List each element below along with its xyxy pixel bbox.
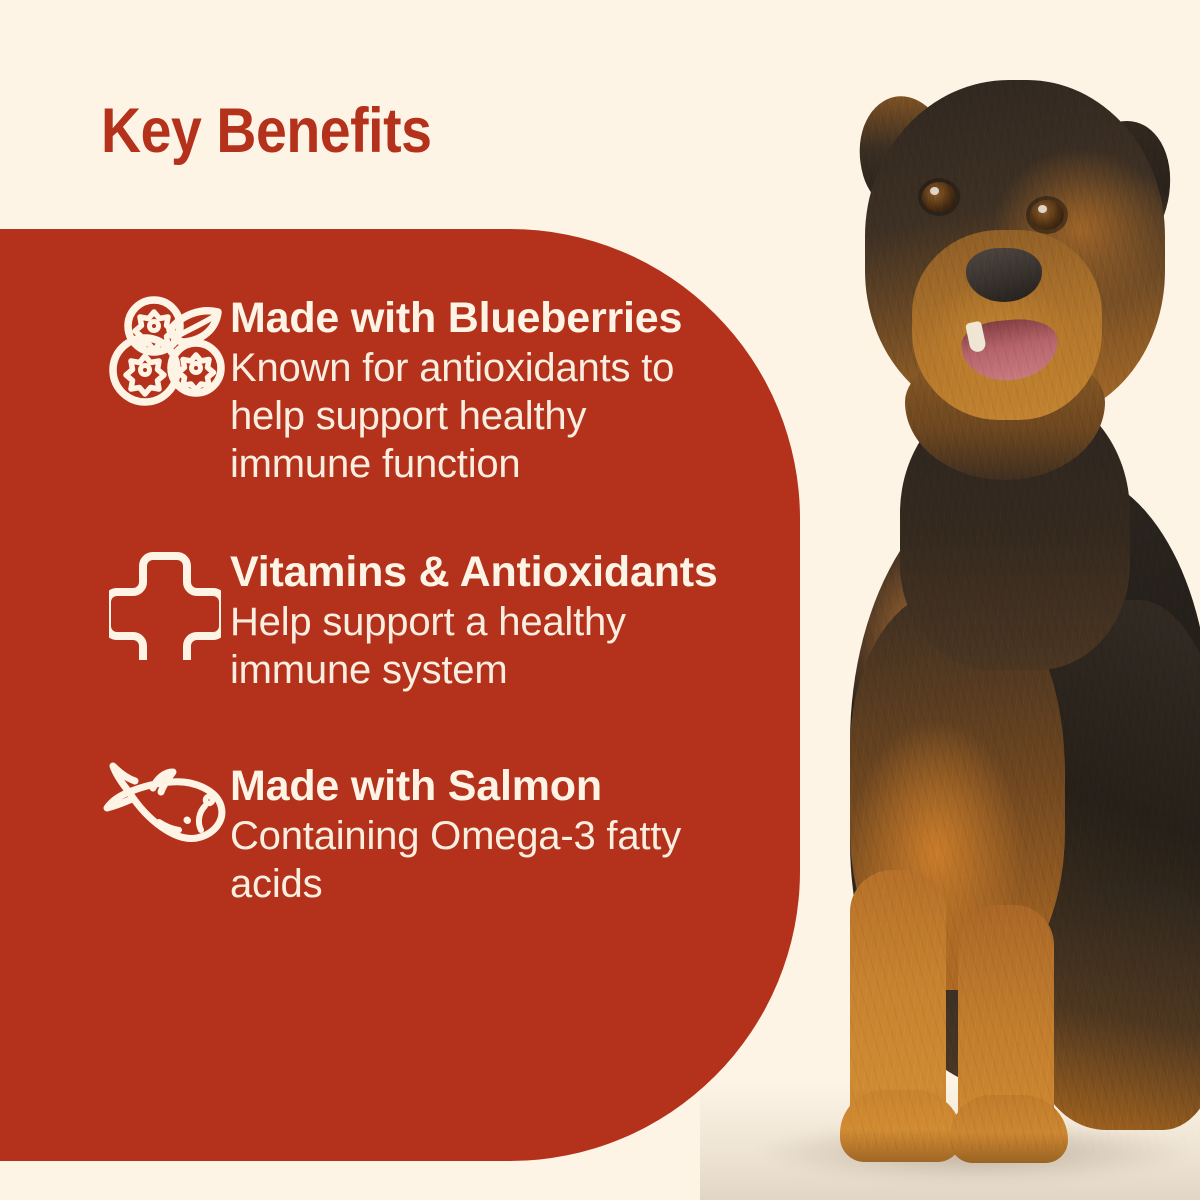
salmon-fish-icon <box>100 756 230 882</box>
plus-cross-icon <box>100 542 230 668</box>
benefit-item-salmon: Made with Salmon Containing Omega-3 fatt… <box>0 756 790 908</box>
benefit-item-blueberries: Made with Blueberries Known for antioxid… <box>0 288 790 488</box>
dog-paw-right <box>950 1095 1068 1163</box>
benefit-text-vitamins: Vitamins & Antioxidants Help support a h… <box>230 542 720 694</box>
dog-eye-right <box>1030 200 1064 230</box>
benefit-text-blueberries: Made with Blueberries Known for antioxid… <box>230 288 720 488</box>
benefit-title: Vitamins & Antioxidants <box>230 546 720 598</box>
benefit-title: Made with Blueberries <box>230 292 720 344</box>
benefit-text-salmon: Made with Salmon Containing Omega-3 fatt… <box>230 756 720 908</box>
key-benefits-infographic: Key Benefits <box>0 0 1200 1200</box>
benefit-description: Known for antioxidants to help support h… <box>230 344 720 488</box>
page-title: Key Benefits <box>101 96 432 166</box>
dog-hind-leg <box>1030 880 1200 1130</box>
benefit-item-vitamins: Vitamins & Antioxidants Help support a h… <box>0 542 790 694</box>
benefit-description: Help support a healthy immune system <box>230 598 720 694</box>
benefit-title: Made with Salmon <box>230 760 720 812</box>
benefits-list: Made with Blueberries Known for antioxid… <box>0 288 790 908</box>
blueberries-icon <box>100 288 230 414</box>
benefit-description: Containing Omega-3 fatty acids <box>230 812 720 908</box>
dog-eye-left <box>922 182 956 212</box>
dog-paw-left <box>840 1090 962 1162</box>
